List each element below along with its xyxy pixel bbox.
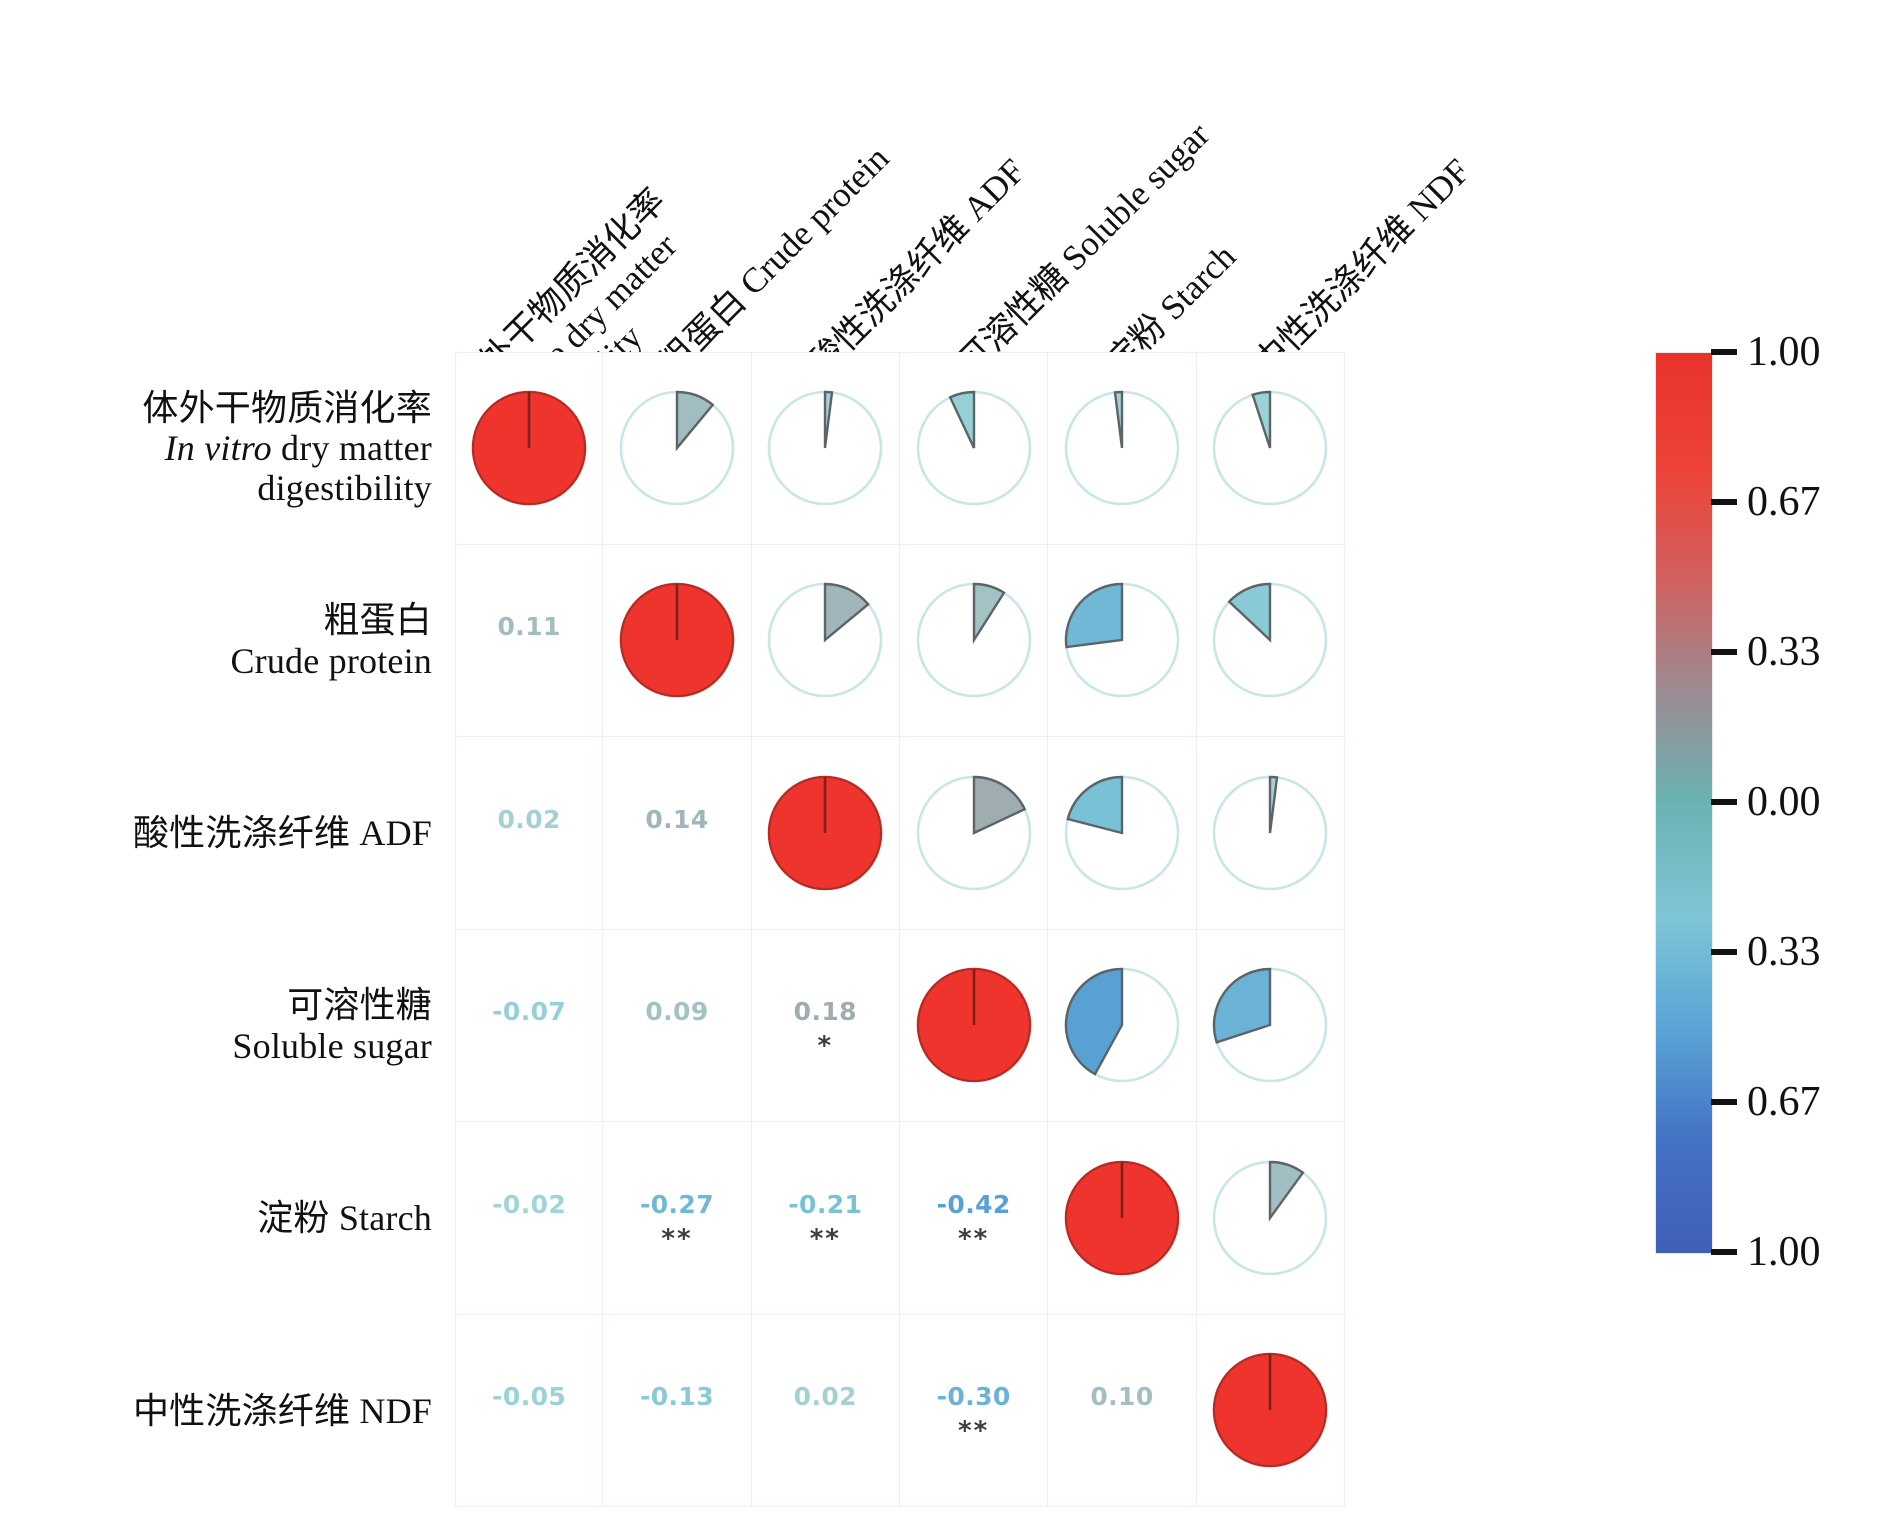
matrix-cell-ivdmd-ivdmd [455, 352, 603, 545]
significance-asterisks: ** [958, 1418, 989, 1436]
colorbar-tick-label: 0.00 [1747, 781, 1821, 823]
matrix-cell-cp-adf [752, 545, 900, 738]
matrix-value-wrapper: -0.27** [640, 1192, 714, 1244]
colorbar-tick-label: 1.00 [1747, 331, 1821, 373]
correlation-pie-glyph [1204, 574, 1336, 706]
row-label-line: 粗蛋白 [323, 600, 432, 640]
colorbar-tick-group: 1.000.670.330.000.330.671.00 [1711, 352, 1871, 1252]
correlation-pie-glyph [611, 574, 743, 706]
matrix-value-wrapper: 0.09 [645, 999, 708, 1051]
correlation-value: -0.02 [492, 1192, 566, 1217]
correlation-pie-glyph [463, 382, 595, 514]
correlation-pie-glyph [1056, 1152, 1188, 1284]
column-header-ndf: 中性洗涤纤维 NDF [1246, 151, 1478, 383]
matrix-cell-adf-ss [900, 737, 1048, 930]
matrix-cell-starch-starch [1048, 1122, 1196, 1315]
matrix-cell-starch-ss: -0.42** [900, 1122, 1048, 1315]
correlation-value: 0.14 [645, 807, 708, 832]
matrix-cell-adf-ivdmd: 0.02 [455, 737, 603, 930]
row-label-line: 体外干物质消化率 [142, 388, 432, 428]
row-label-line: digestibility [257, 468, 432, 508]
colorbar-tick: 1.00 [1711, 331, 1821, 373]
correlation-value: -0.21 [788, 1192, 862, 1217]
matrix-cell-ss-ivdmd: -0.07 [455, 930, 603, 1123]
matrix-value-wrapper: 0.02 [794, 1384, 857, 1436]
correlation-pie-glyph [1056, 959, 1188, 1091]
matrix-cell-starch-ivdmd: -0.02 [455, 1122, 603, 1315]
matrix-cell-adf-starch [1048, 737, 1196, 930]
correlation-pie-glyph [1056, 382, 1188, 514]
column-header-line: 中性洗涤纤维 NDF [1246, 151, 1478, 383]
correlation-pie-glyph [759, 767, 891, 899]
significance-asterisks: * [818, 1033, 834, 1051]
correlation-pie-glyph [1204, 382, 1336, 514]
matrix-value-wrapper: -0.05 [492, 1384, 566, 1436]
colorbar-tick-mark [1711, 349, 1737, 355]
colorbar-tick-label: 0.33 [1747, 931, 1821, 973]
significance-asterisks: ** [810, 1226, 841, 1244]
matrix-value-wrapper: -0.02 [492, 1192, 566, 1244]
matrix-cell-ndf-starch: 0.10 [1048, 1315, 1196, 1508]
correlation-pie-glyph [1204, 1344, 1336, 1476]
column-header-ss: 可溶性糖 Soluble sugar [949, 115, 1218, 384]
colorbar-tick-mark [1711, 499, 1737, 505]
correlation-pie-glyph [611, 382, 743, 514]
matrix-cell-ivdmd-cp [603, 352, 751, 545]
correlation-value: -0.42 [937, 1192, 1011, 1217]
column-header-group: 体外干物质消化率In vitro dry matterdigestibility… [0, 0, 1877, 352]
colorbar-tick-label: 0.67 [1747, 481, 1821, 523]
matrix-value-wrapper: 0.14 [645, 807, 708, 859]
significance-asterisks: ** [958, 1226, 989, 1244]
colorbar-tick: 0.33 [1711, 931, 1821, 973]
correlation-pie-glyph [908, 767, 1040, 899]
matrix-value-wrapper: 0.02 [498, 807, 561, 859]
colorbar-tick: 0.67 [1711, 481, 1821, 523]
row-label-line: Crude protein [230, 641, 432, 681]
matrix-cell-ndf-cp: -0.13 [603, 1315, 751, 1508]
correlation-pie-glyph [759, 382, 891, 514]
colorbar-tick-mark [1711, 799, 1737, 805]
correlation-value: 0.10 [1090, 1384, 1153, 1409]
colorbar-tick-mark [1711, 1099, 1737, 1105]
colorbar-tick-mark [1711, 1249, 1737, 1255]
matrix-cell-ss-ndf [1197, 930, 1345, 1123]
matrix-value-wrapper: -0.13 [640, 1384, 714, 1436]
significance-asterisks: ** [661, 1226, 692, 1244]
matrix-cell-ss-ss [900, 930, 1048, 1123]
correlation-value: -0.13 [640, 1384, 714, 1409]
correlation-value: 0.02 [794, 1384, 857, 1409]
matrix-cell-adf-ndf [1197, 737, 1345, 930]
row-label-ivdmd: 体外干物质消化率In vitro dry matterdigestibility [0, 352, 432, 545]
matrix-cell-cp-ss [900, 545, 1048, 738]
matrix-cell-ivdmd-adf [752, 352, 900, 545]
correlation-pie-glyph [1056, 767, 1188, 899]
correlation-pie-glyph [908, 382, 1040, 514]
correlation-value: -0.05 [492, 1384, 566, 1409]
row-label-adf: 酸性洗涤纤维 ADF [0, 737, 432, 930]
colorbar-tick: 0.33 [1711, 631, 1821, 673]
correlation-value: 0.02 [498, 807, 561, 832]
row-label-line: 酸性洗涤纤维 ADF [133, 813, 432, 853]
colorbar-gradient [1655, 352, 1713, 1254]
matrix-value-wrapper: 0.10 [1090, 1384, 1153, 1436]
matrix-cell-ivdmd-ss [900, 352, 1048, 545]
matrix-cell-ndf-ivdmd: -0.05 [455, 1315, 603, 1508]
colorbar-tick-label: 1.00 [1747, 1231, 1821, 1273]
matrix-value-wrapper: -0.21** [788, 1192, 862, 1244]
correlation-value: -0.07 [492, 999, 566, 1024]
matrix-cell-ivdmd-ndf [1197, 352, 1345, 545]
row-label-line: In vitro dry matter [165, 428, 432, 468]
row-label-line: 可溶性糖 [287, 985, 432, 1025]
row-label-line: 中性洗涤纤维 NDF [133, 1391, 432, 1431]
colorbar-tick: 0.67 [1711, 1081, 1821, 1123]
matrix-cell-ss-starch [1048, 930, 1196, 1123]
correlation-value: -0.30 [937, 1384, 1011, 1409]
matrix-cell-cp-starch [1048, 545, 1196, 738]
correlation-value: 0.18 [794, 999, 857, 1024]
matrix-cell-starch-adf: -0.21** [752, 1122, 900, 1315]
matrix-cell-adf-adf [752, 737, 900, 930]
row-label-line: Soluble sugar [232, 1026, 432, 1066]
correlation-pie-glyph [908, 574, 1040, 706]
row-label-line: 淀粉 Starch [257, 1198, 432, 1238]
row-label-cp: 粗蛋白Crude protein [0, 545, 432, 738]
row-label-ndf: 中性洗涤纤维 NDF [0, 1315, 432, 1508]
matrix-cell-starch-ndf [1197, 1122, 1345, 1315]
row-label-starch: 淀粉 Starch [0, 1122, 432, 1315]
matrix-cell-starch-cp: -0.27** [603, 1122, 751, 1315]
colorbar-tick-mark [1711, 949, 1737, 955]
matrix-cell-adf-cp: 0.14 [603, 737, 751, 930]
colorbar-tick-label: 0.33 [1747, 631, 1821, 673]
matrix-cell-ndf-ndf [1197, 1315, 1345, 1508]
correlation-pie-glyph [1056, 574, 1188, 706]
matrix-value-wrapper: 0.18* [794, 999, 857, 1051]
matrix-cell-ivdmd-starch [1048, 352, 1196, 545]
matrix-cell-ndf-ss: -0.30** [900, 1315, 1048, 1508]
colorbar-tick: 1.00 [1711, 1231, 1821, 1273]
colorbar-tick: 0.00 [1711, 781, 1821, 823]
matrix-cell-ss-cp: 0.09 [603, 930, 751, 1123]
colorbar-tick-label: 0.67 [1747, 1081, 1821, 1123]
correlation-matrix-grid: 0.110.020.14-0.070.090.18*-0.02-0.27**-0… [455, 352, 1345, 1507]
correlation-pie-glyph [1204, 959, 1336, 1091]
row-label-group: 体外干物质消化率In vitro dry matterdigestibility… [0, 352, 446, 1502]
correlation-value: -0.27 [640, 1192, 714, 1217]
matrix-value-wrapper: -0.30** [937, 1384, 1011, 1436]
matrix-value-wrapper: -0.07 [492, 999, 566, 1051]
column-header-line: 可溶性糖 Soluble sugar [949, 115, 1218, 384]
correlation-pie-glyph [759, 574, 891, 706]
colorbar-tick-mark [1711, 649, 1737, 655]
correlation-pie-glyph [1204, 1152, 1336, 1284]
correlation-pie-glyph [1204, 767, 1336, 899]
matrix-cell-cp-cp [603, 545, 751, 738]
row-label-ss: 可溶性糖Soluble sugar [0, 930, 432, 1123]
correlation-value: 0.11 [498, 614, 561, 639]
matrix-cell-cp-ndf [1197, 545, 1345, 738]
matrix-value-wrapper: 0.11 [498, 614, 561, 666]
correlation-value: 0.09 [645, 999, 708, 1024]
matrix-cell-ss-adf: 0.18* [752, 930, 900, 1123]
matrix-cell-cp-ivdmd: 0.11 [455, 545, 603, 738]
correlation-pie-glyph [908, 959, 1040, 1091]
matrix-value-wrapper: -0.42** [937, 1192, 1011, 1244]
matrix-cell-ndf-adf: 0.02 [752, 1315, 900, 1508]
